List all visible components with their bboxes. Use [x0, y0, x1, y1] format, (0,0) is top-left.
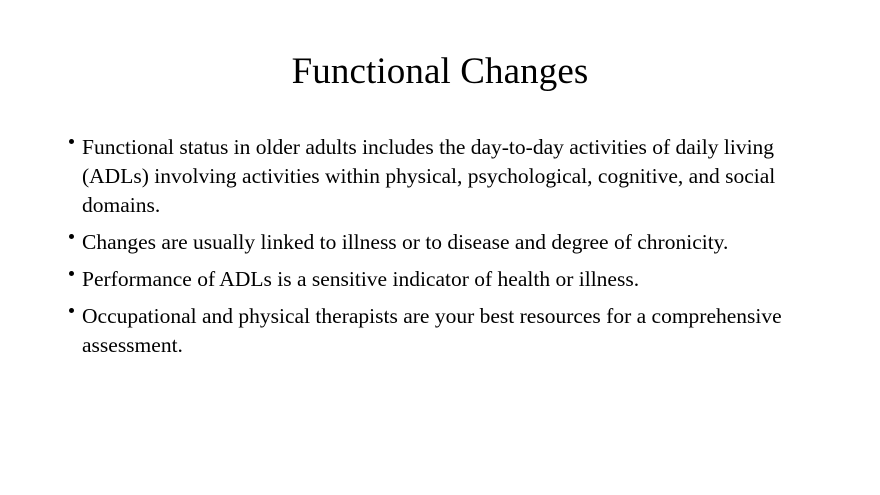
bullet-item-3: Performance of ADLs is a sensitive indic… [63, 265, 823, 294]
bullet-dot-icon [69, 271, 74, 276]
presentation-slide: Functional Changes Functional status in … [0, 0, 880, 495]
bullet-dot-icon [69, 139, 74, 144]
bullet-list: Functional status in older adults includ… [63, 133, 823, 360]
bullet-item-label: Functional status in older adults includ… [82, 133, 823, 220]
bullet-item-1: Functional status in older adults includ… [63, 133, 823, 220]
bullet-dot-icon [69, 308, 74, 313]
bullet-item-label: Occupational and physical therapists are… [82, 302, 823, 360]
bullet-item-4: Occupational and physical therapists are… [63, 302, 823, 360]
bullet-dot-icon [69, 234, 74, 239]
bullet-item-2: Changes are usually linked to illness or… [63, 228, 823, 257]
slide-body: Functional status in older adults includ… [63, 133, 823, 360]
bullet-item-label: Performance of ADLs is a sensitive indic… [82, 265, 823, 294]
slide-title: Functional Changes [0, 50, 880, 94]
bullet-item-label: Changes are usually linked to illness or… [82, 228, 823, 257]
